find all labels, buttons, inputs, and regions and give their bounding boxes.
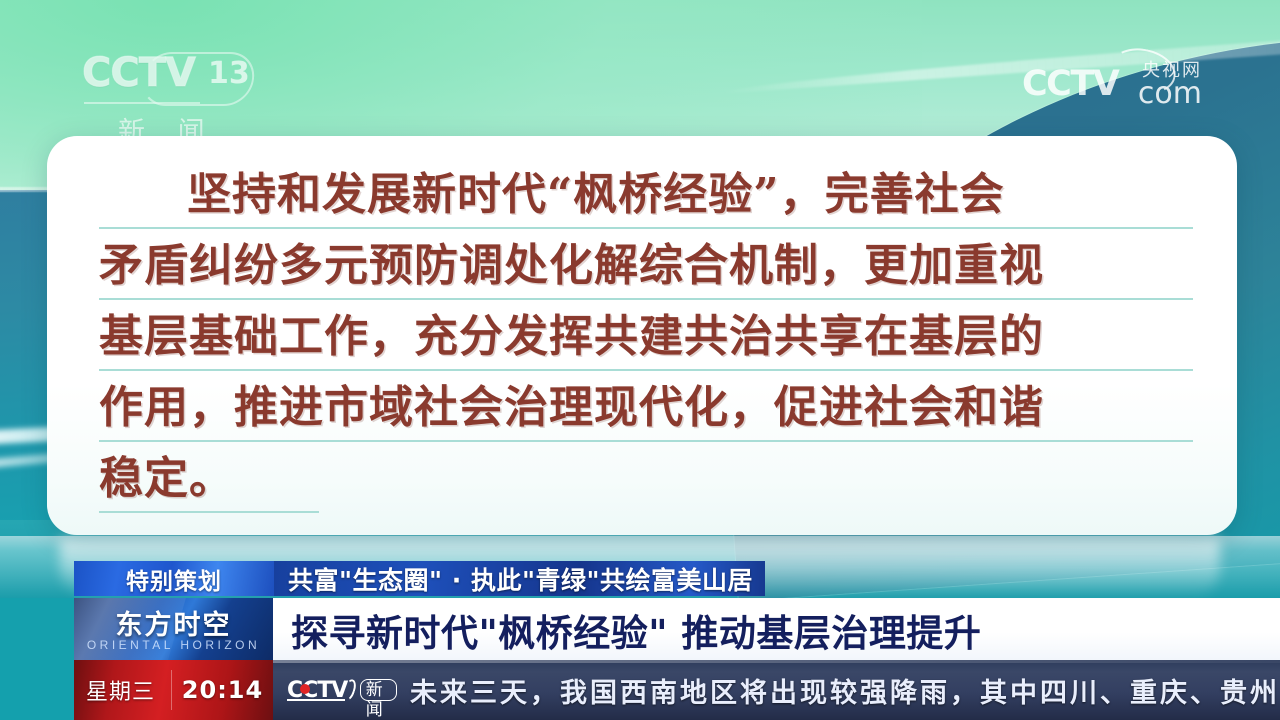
headline-banner: 东方时空 ORIENTAL HORIZON 探寻新时代"枫桥经验" 推动基层治理… — [0, 598, 1280, 660]
quote-line-text: 基层基础工作，充分发挥共建共治共享在基层的 — [99, 301, 1193, 372]
quote-line-text: 稳定。 — [99, 443, 1193, 514]
ticker-time: 20:14 — [175, 676, 271, 704]
ticker-datetime: 星期三 20:14 — [74, 660, 273, 720]
headline-left-spacer — [0, 598, 74, 660]
quote-line-text: 作用，推进市域社会治理现代化，促进社会和谐 — [99, 372, 1193, 443]
headline-text: 探寻新时代"枫桥经验" 推动基层治理提升 — [291, 603, 981, 657]
quote-line: 稳定。 — [99, 442, 1193, 513]
quote-card: 坚持和发展新时代“枫桥经验”，完善社会 矛盾纠纷多元预防调处化解综合机制，更加重… — [47, 136, 1237, 535]
quote-line: 矛盾纠纷多元预防调处化解综合机制，更加重视 — [99, 229, 1193, 300]
channel-logo-underline — [84, 102, 200, 104]
cctv-news-logo-underline — [287, 699, 345, 701]
ticker-left-spacer — [0, 660, 74, 720]
ticker-text: 未来三天，我国西南地区将出现较强降雨，其中四川、重庆、贵州 — [410, 671, 1280, 710]
sub-banner: 特别策划 共富"生态圈" · 执此"青绿"共绘富美山居 — [74, 561, 765, 596]
ticker-divider — [171, 670, 172, 710]
ticker-body: CCTV 新闻 未来三天，我国西南地区将出现较强降雨，其中四川、重庆、贵州 — [273, 660, 1280, 720]
quote-rule — [99, 511, 319, 513]
program-name-english: ORIENTAL HORIZON — [87, 638, 260, 652]
cctv-com-watermark: CCTV 央视网 com — [1022, 52, 1202, 110]
cctv-news-logo: CCTV 新闻 — [287, 678, 397, 703]
cctv-news-logo-news-text: 新闻 — [360, 679, 397, 701]
quote-line: 基层基础工作，充分发挥共建共治共享在基层的 — [99, 300, 1193, 371]
watermark-cctv-text: CCTV — [1022, 64, 1118, 104]
watermark-com-text: com — [1138, 76, 1202, 111]
sub-headline: 共富"生态圈" · 执此"青绿"共绘富美山居 — [274, 561, 765, 596]
broadcast-screen: CCTV 13 新 闻 CCTV 央视网 com 坚持和发展新时代“枫桥经验”，… — [0, 0, 1280, 720]
channel-logo: CCTV 13 新 闻 — [82, 50, 282, 142]
ticker-top-sheen — [273, 660, 1280, 663]
headline-bar: 探寻新时代"枫桥经验" 推动基层治理提升 — [273, 598, 1280, 660]
special-feature-tag: 特别策划 — [74, 561, 274, 596]
channel-logo-oval-icon — [139, 52, 258, 106]
cctv-news-logo-red-dot-icon — [300, 684, 310, 694]
news-ticker: 星期三 20:14 CCTV 新闻 未来三天，我国西南地区将出现较强降雨，其中四… — [0, 660, 1280, 720]
quote-line-text: 坚持和发展新时代“枫桥经验”，完善社会 — [99, 159, 1193, 230]
quote-line-text: 矛盾纠纷多元预防调处化解综合机制，更加重视 — [99, 230, 1193, 301]
program-logo: 东方时空 ORIENTAL HORIZON — [74, 598, 273, 660]
ticker-weekday: 星期三 — [77, 674, 165, 706]
quote-text-block: 坚持和发展新时代“枫桥经验”，完善社会 矛盾纠纷多元预防调处化解综合机制，更加重… — [99, 158, 1193, 513]
quote-line: 作用，推进市域社会治理现代化，促进社会和谐 — [99, 371, 1193, 442]
quote-line: 坚持和发展新时代“枫桥经验”，完善社会 — [99, 158, 1193, 229]
cctv-news-logo-cctv-text: CCTV — [287, 678, 347, 703]
program-name: 东方时空 — [116, 603, 232, 642]
